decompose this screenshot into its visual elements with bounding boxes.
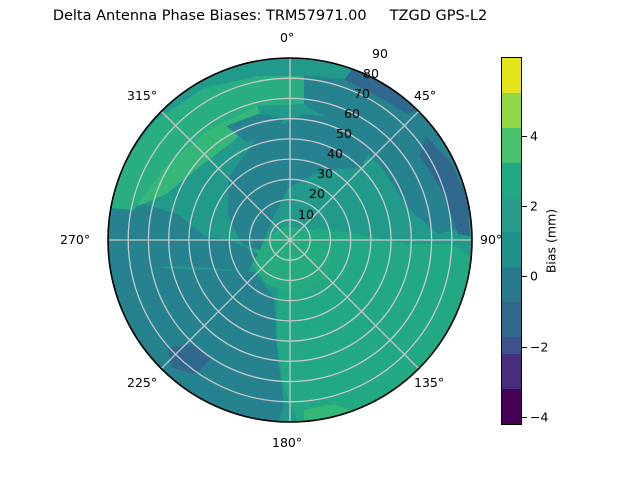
colorbar-tick-mark-4 [522, 136, 527, 137]
colorbar-tick-group: 4 2 0 −2 −4 [501, 57, 581, 425]
azimuth-label-135: 135° [414, 375, 444, 390]
figure-canvas: Delta Antenna Phase Biases: TRM57971.00 … [0, 0, 640, 480]
polar-contour-plot[interactable] [108, 58, 472, 422]
radial-label-10: 10 [298, 207, 314, 222]
radial-label-80: 80 [363, 66, 379, 81]
azimuth-label-225: 225° [127, 375, 157, 390]
azimuth-label-0: 0° [280, 30, 294, 45]
colorbar-ticklabel-4: 4 [530, 128, 538, 143]
page-title: Delta Antenna Phase Biases: TRM57971.00 … [0, 8, 540, 24]
colorbar-ticklabel-neg4: −4 [530, 409, 548, 424]
colorbar-ticklabel-0: 0 [530, 269, 538, 284]
radial-label-90: 90 [372, 46, 388, 61]
azimuth-label-180: 180° [272, 435, 302, 450]
polar-axes[interactable]: 0° 45° 90° 135° 180° 225° 270° 315° 10 2… [108, 58, 472, 422]
colorbar-tick-mark-neg2 [522, 347, 527, 348]
colorbar-tick-mark-0 [522, 276, 527, 277]
radial-label-20: 20 [309, 186, 325, 201]
radial-label-40: 40 [327, 146, 343, 161]
colorbar-ticklabel-neg2: −2 [530, 339, 548, 354]
colorbar-axis-label: Bias (mm) [544, 209, 559, 273]
radial-label-60: 60 [344, 106, 360, 121]
radial-label-50: 50 [336, 126, 352, 141]
colorbar-tick-mark-2 [522, 206, 527, 207]
polar-grid-spokes [108, 58, 472, 422]
azimuth-label-315: 315° [127, 88, 157, 103]
colorbar-tick-mark-neg4 [522, 417, 527, 418]
azimuth-label-90: 90° [480, 232, 502, 247]
radial-label-30: 30 [317, 166, 333, 181]
azimuth-label-45: 45° [414, 88, 436, 103]
azimuth-label-270: 270° [60, 232, 90, 247]
radial-label-70: 70 [354, 86, 370, 101]
colorbar-ticklabel-2: 2 [530, 199, 538, 214]
